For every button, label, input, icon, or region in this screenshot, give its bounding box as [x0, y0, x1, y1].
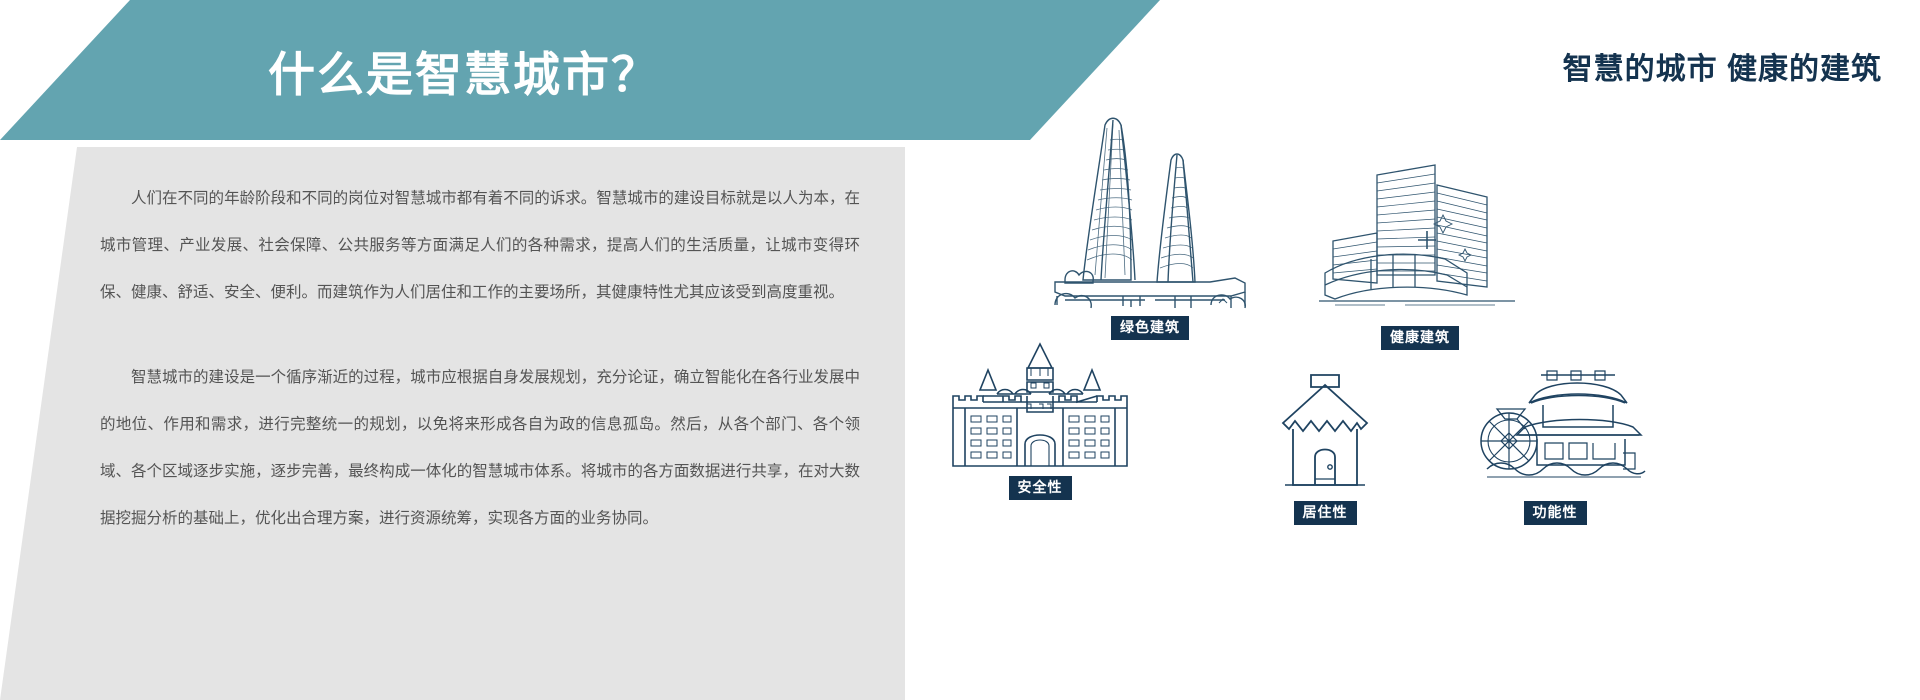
label-safety: 安全性 [1009, 476, 1072, 500]
illustration-safety: 安全性 [890, 340, 1190, 500]
twin-tower-green-building-icon [1035, 100, 1265, 310]
hospital-building-icon [1315, 155, 1525, 320]
label-health-building: 健康建筑 [1381, 326, 1459, 350]
label-livability: 居住性 [1294, 501, 1357, 525]
header-tagline: 智慧的城市 健康的建筑 [1563, 44, 1882, 88]
label-functionality: 功能性 [1524, 501, 1587, 525]
paragraph-2: 智慧城市的建设是一个循序渐近的过程，城市应根据自身发展规划，充分论证，确立智能化… [100, 354, 860, 542]
article-body: 人们在不同的年龄阶段和不同的岗位对智慧城市都有着不同的诉求。智慧城市的建设目标就… [100, 175, 860, 542]
house-icon [1265, 365, 1385, 495]
watermill-pavilion-icon [1463, 365, 1648, 495]
illustration-health-building: 健康建筑 [1270, 155, 1570, 350]
label-green-building: 绿色建筑 [1111, 316, 1189, 340]
illustration-functionality: 功能性 [1405, 365, 1705, 525]
illustration-green-building: 绿色建筑 [1000, 100, 1300, 340]
paragraph-1: 人们在不同的年龄阶段和不同的岗位对智慧城市都有着不同的诉求。智慧城市的建设目标就… [100, 175, 860, 316]
illustration-area: 绿色建筑 [905, 100, 1920, 700]
castle-icon [935, 340, 1145, 470]
